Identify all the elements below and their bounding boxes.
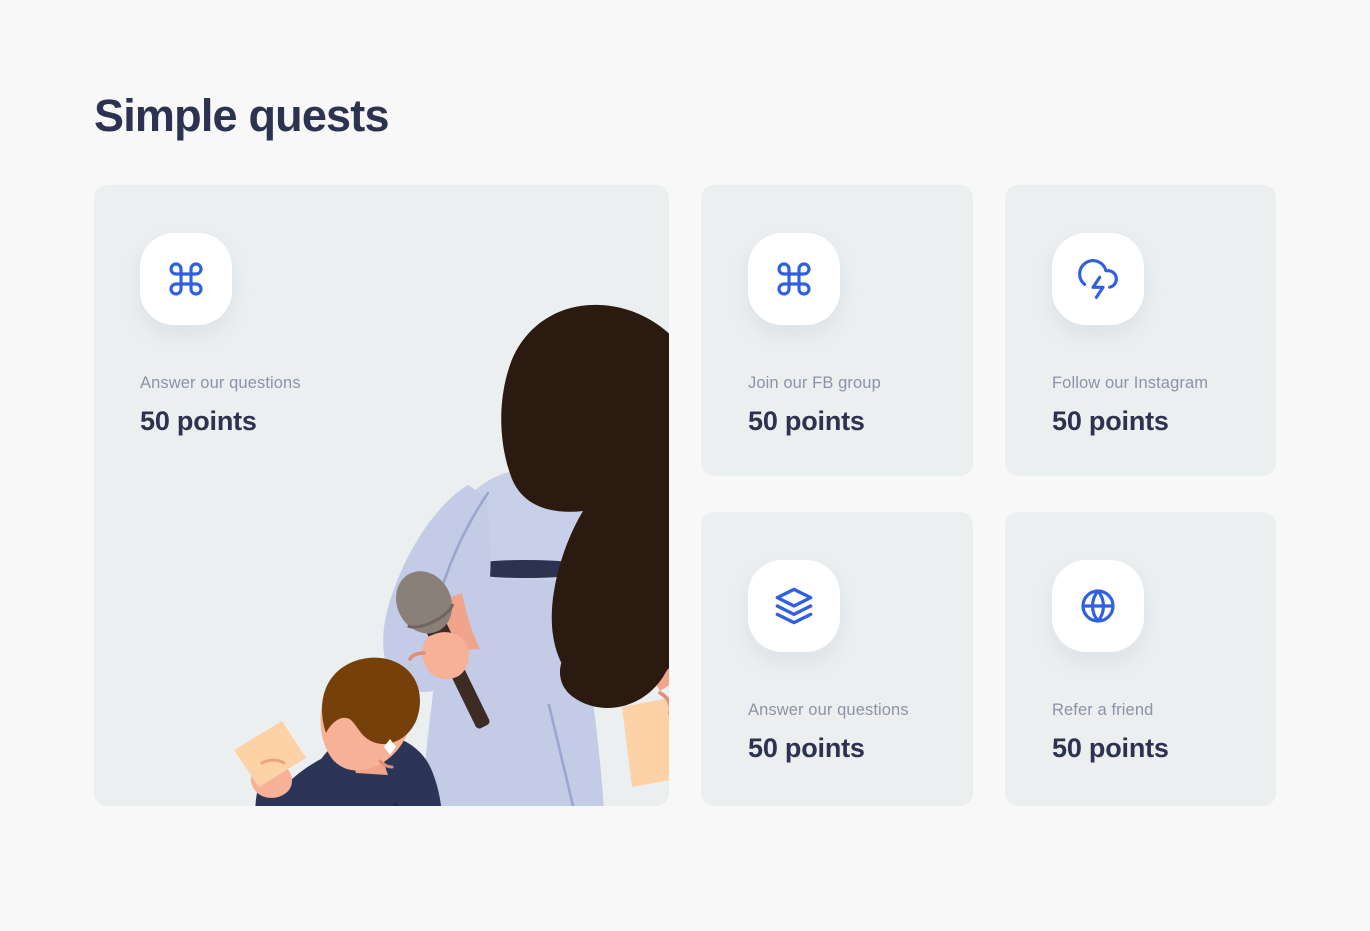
- quest-card-content: Answer our questions 50 points: [94, 185, 669, 438]
- quest-points: 50 points: [748, 731, 973, 765]
- quest-card-content: Answer our questions 50 points: [701, 512, 973, 765]
- quest-card-refer-a-friend[interactable]: Refer a friend 50 points: [1005, 512, 1276, 806]
- cloud-lightning-icon-tile[interactable]: [1052, 233, 1144, 325]
- quest-label: Answer our questions: [140, 372, 669, 394]
- globe-icon: [1078, 586, 1118, 626]
- quest-card-follow-instagram[interactable]: Follow our Instagram 50 points: [1005, 185, 1276, 476]
- quest-card-answer-questions[interactable]: Answer our questions 50 points: [701, 512, 973, 806]
- quest-points: 50 points: [1052, 404, 1276, 438]
- cloud-lightning-icon: [1078, 259, 1118, 299]
- quest-label: Join our FB group: [748, 372, 973, 394]
- command-icon-tile[interactable]: [748, 233, 840, 325]
- globe-icon-tile[interactable]: [1052, 560, 1144, 652]
- command-icon-tile[interactable]: [140, 233, 232, 325]
- quest-grid: Answer our questions 50 points: [94, 185, 1276, 806]
- quest-card-content: Refer a friend 50 points: [1005, 512, 1276, 765]
- quests-page: Simple quests Answer our questions 50 po…: [0, 0, 1370, 931]
- quest-label: Follow our Instagram: [1052, 372, 1276, 394]
- command-icon: [774, 259, 814, 299]
- quest-label: Refer a friend: [1052, 699, 1276, 721]
- page-title: Simple quests: [94, 88, 389, 144]
- layers-icon-tile[interactable]: [748, 560, 840, 652]
- quest-points: 50 points: [1052, 731, 1276, 765]
- quest-card-content: Follow our Instagram 50 points: [1005, 185, 1276, 438]
- quest-points: 50 points: [140, 404, 669, 438]
- quest-card-join-fb-group[interactable]: Join our FB group 50 points: [701, 185, 973, 476]
- quest-card-content: Join our FB group 50 points: [701, 185, 973, 438]
- layers-icon: [774, 586, 814, 626]
- quest-points: 50 points: [748, 404, 973, 438]
- command-icon: [166, 259, 206, 299]
- quest-card-answer-questions-featured[interactable]: Answer our questions 50 points: [94, 185, 669, 806]
- quest-label: Answer our questions: [748, 699, 973, 721]
